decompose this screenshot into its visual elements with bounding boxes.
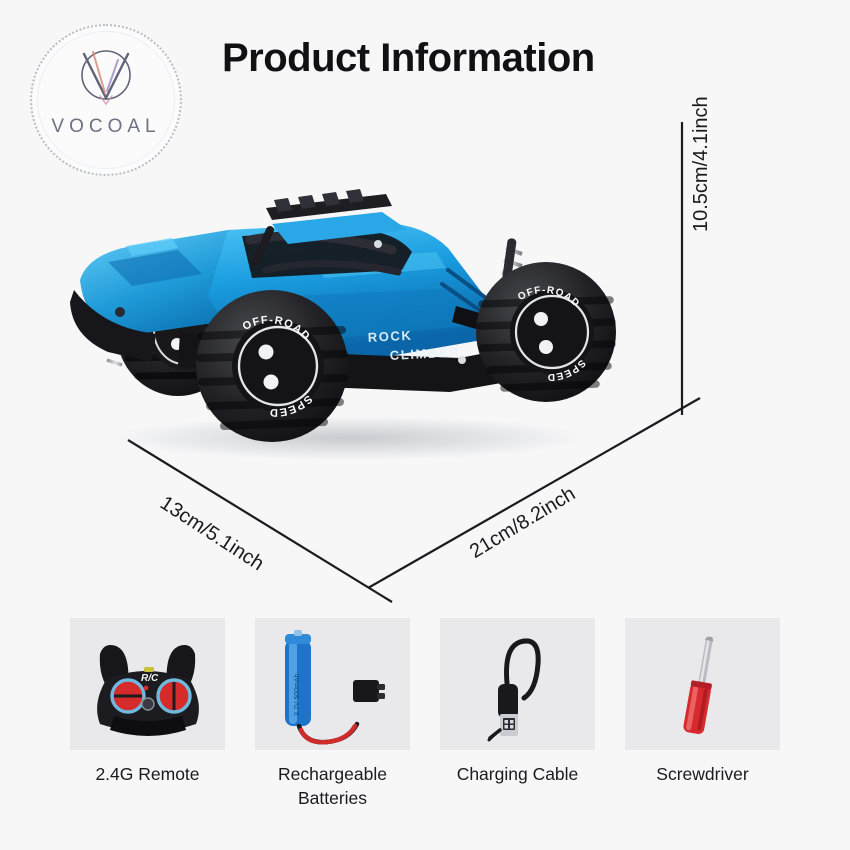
accessory-label-batteries-line1: Rechargeable bbox=[278, 764, 387, 784]
car-body-text-rock: ROCK bbox=[367, 328, 412, 345]
battery-spec-text: 3.7V 500mAh bbox=[294, 673, 301, 716]
wheel-front-left: OFF-ROAD SPEED bbox=[196, 290, 348, 442]
rc-car-image: ROCK CLIMBER bbox=[60, 120, 620, 460]
battery-pack-icon: 3.7V 500mAh bbox=[255, 618, 410, 750]
accessory-item-charging-cable: Charging Cable bbox=[440, 618, 595, 850]
accessory-label-batteries-line2: Batteries bbox=[298, 788, 367, 808]
wheel-rear-right: OFF-ROAD SPEED bbox=[476, 262, 616, 402]
product-stage: ROCK CLIMBER bbox=[0, 110, 850, 610]
accessory-photo-screwdriver bbox=[625, 618, 780, 750]
v-monogram-circle-icon bbox=[74, 46, 138, 108]
accessory-label-screwdriver: Screwdriver bbox=[625, 763, 780, 787]
accessory-label-batteries: Rechargeable Batteries bbox=[255, 763, 410, 810]
accessory-item-remote: R/C 2.4G Remote bbox=[70, 618, 225, 850]
accessories-row: R/C 2.4G Remote 3.7V 500mAh bbox=[0, 618, 850, 850]
product-information-page: VOCOAL Product Information bbox=[0, 0, 850, 850]
accessory-item-screwdriver: Screwdriver bbox=[625, 618, 780, 850]
accessory-photo-batteries: 3.7V 500mAh bbox=[255, 618, 410, 750]
dimension-label-height: 10.5cm/4.1inch bbox=[690, 96, 713, 232]
page-title: Product Information bbox=[222, 36, 595, 81]
accessory-photo-charging-cable bbox=[440, 618, 595, 750]
screwdriver-icon bbox=[625, 618, 780, 750]
accessory-item-batteries: 3.7V 500mAh Rechargeable Batteries bbox=[255, 618, 410, 850]
accessory-label-charging-cable: Charging Cable bbox=[440, 763, 595, 787]
remote-rc-label: R/C bbox=[141, 673, 159, 684]
remote-controller-icon: R/C bbox=[70, 618, 225, 750]
usb-charging-cable-icon bbox=[440, 618, 595, 750]
accessory-photo-remote: R/C bbox=[70, 618, 225, 750]
accessory-label-remote: 2.4G Remote bbox=[70, 763, 225, 787]
